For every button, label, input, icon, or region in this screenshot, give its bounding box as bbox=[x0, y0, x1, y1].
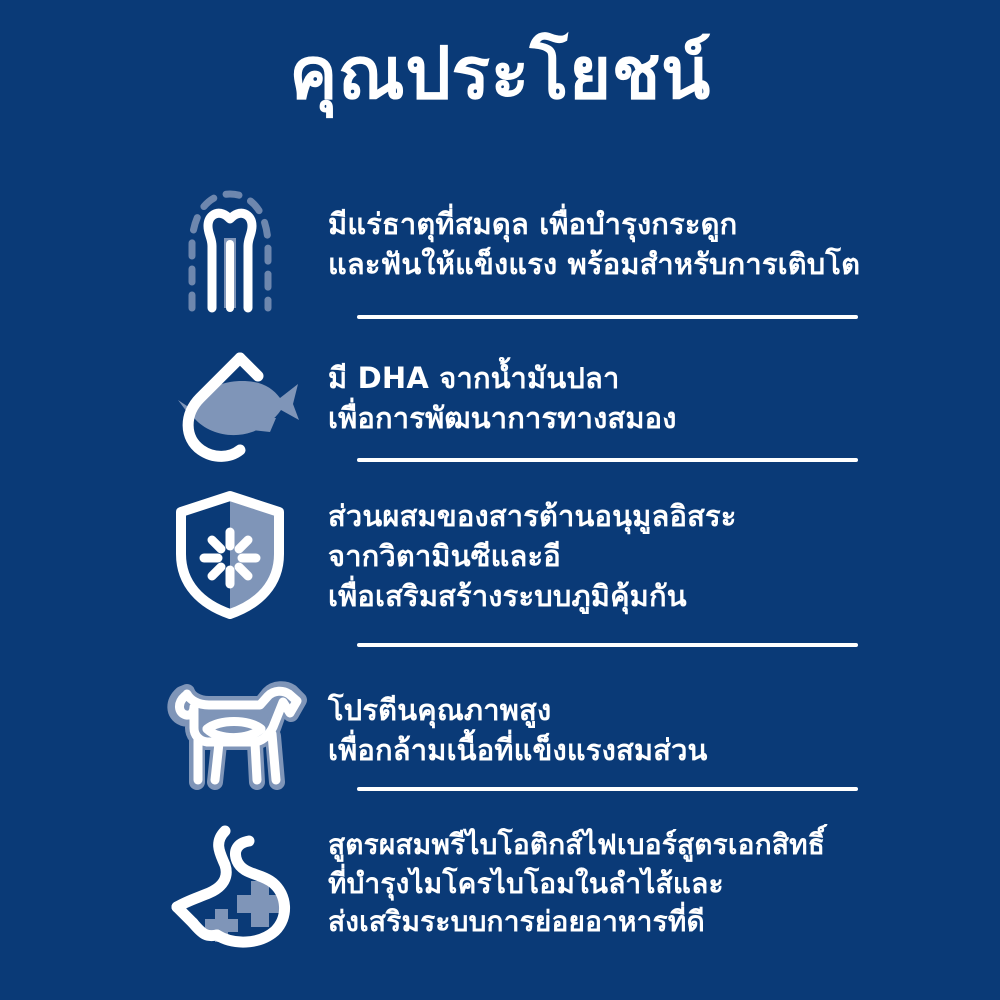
bone-icon bbox=[178, 184, 282, 310]
benefit-row-bone: มีแร่ธาตุที่สมดุล เพื่อบำรุงกระดูก และฟั… bbox=[140, 182, 870, 312]
benefit-line: มี DHA จากน้ำมันปลา bbox=[328, 358, 870, 398]
benefit-line: เพื่อกล้ามเนื้อที่แข็งแรงสมส่วน bbox=[328, 730, 870, 770]
benefit-icon-cell bbox=[140, 182, 320, 312]
benefit-line: เพื่อการพัฒนาการทางสมอง bbox=[328, 398, 870, 438]
section-divider bbox=[357, 458, 858, 462]
fish-droplet-icon bbox=[160, 346, 300, 462]
stomach-icon bbox=[163, 821, 297, 947]
benefit-text: มีแร่ธาตุที่สมดุล เพื่อบำรุงกระดูก และฟั… bbox=[320, 182, 870, 284]
section-divider bbox=[357, 315, 858, 319]
section-divider bbox=[357, 643, 858, 647]
benefit-row-antioxidant: ส่วนผสมของสารต้านอนุมูลอิสระ จากวิตามินซ… bbox=[140, 484, 870, 624]
section-divider bbox=[357, 787, 858, 791]
benefit-line: จากวิตามินซีและอี bbox=[328, 536, 870, 576]
benefit-row-digestion: สูตรผสมพรีไบโอติกส์ไฟเบอร์สูตรเอกสิทธิ์ … bbox=[140, 814, 870, 954]
benefit-text: มี DHA จากน้ำมันปลา เพื่อการพัฒนาการทางส… bbox=[320, 344, 870, 438]
benefit-line: มีแร่ธาตุที่สมดุล เพื่อบำรุงกระดูก bbox=[328, 204, 870, 244]
cat-muscle-icon bbox=[157, 670, 303, 796]
benefit-row-dha: มี DHA จากน้ำมันปลา เพื่อการพัฒนาการทางส… bbox=[140, 344, 870, 464]
benefit-text: ส่วนผสมของสารต้านอนุมูลอิสระ จากวิตามินซ… bbox=[320, 484, 870, 616]
benefit-icon-cell bbox=[140, 484, 320, 624]
benefit-line: ส่วนผสมของสารต้านอนุมูลอิสระ bbox=[328, 496, 870, 536]
benefit-row-protein: โปรตีนคุณภาพสูง เพื่อกล้ามเนื้อที่แข็งแร… bbox=[140, 668, 870, 798]
benefit-line: สูตรผสมพรีไบโอติกส์ไฟเบอร์สูตรเอกสิทธิ์ bbox=[328, 826, 870, 865]
benefit-icon-cell bbox=[140, 668, 320, 798]
page-title: คุณประโยชน์ bbox=[0, 32, 1000, 115]
benefit-text: โปรตีนคุณภาพสูง เพื่อกล้ามเนื้อที่แข็งแร… bbox=[320, 668, 870, 770]
benefit-icon-cell bbox=[140, 344, 320, 464]
benefit-icon-cell bbox=[140, 814, 320, 954]
benefit-line: เพื่อเสริมสร้างระบบภูมิคุ้มกัน bbox=[328, 576, 870, 616]
shield-burst-icon bbox=[171, 488, 289, 620]
benefits-list: มีแร่ธาตุที่สมดุล เพื่อบำรุงกระดูก และฟั… bbox=[0, 176, 1000, 986]
benefit-line: ที่บำรุงไมโครไบโอมในลำไส้และ bbox=[328, 865, 870, 904]
benefit-line: ส่งเสริมระบบการย่อยอาหารที่ดี bbox=[328, 903, 870, 942]
benefits-infographic: คุณประโยชน์ bbox=[0, 0, 1000, 1000]
benefit-text: สูตรผสมพรีไบโอติกส์ไฟเบอร์สูตรเอกสิทธิ์ … bbox=[320, 814, 870, 942]
benefit-line: โปรตีนคุณภาพสูง bbox=[328, 690, 870, 730]
benefit-line: และฟันให้แข็งแรง พร้อมสำหรับการเติบโต bbox=[328, 244, 870, 284]
